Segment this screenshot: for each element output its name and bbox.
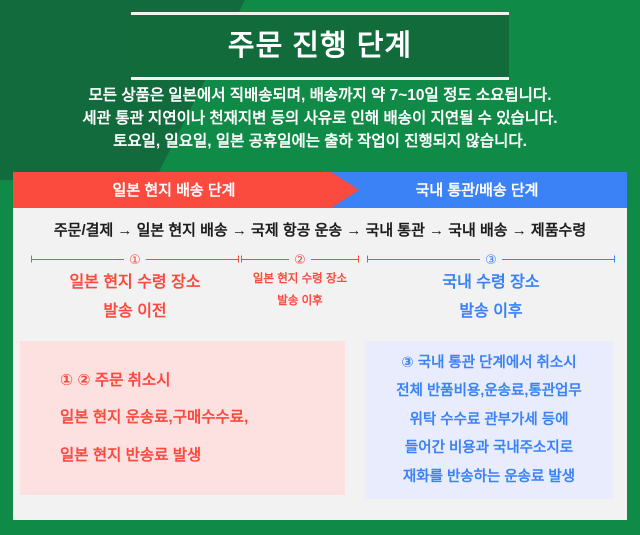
callout-red-line-1: ① ② 주문 취소시 — [60, 373, 345, 389]
callout-blue-line-2: 전체 반품비용,운송료,통관업무 — [396, 384, 582, 399]
order-process-infographic: 주문 진행 단계 모든 상품은 일본에서 직배송되며, 배송까지 약 7~10일… — [0, 0, 640, 535]
callout-domestic-cancellation: ③ 국내 통관 단계에서 취소시 전체 반품비용,운송료,통관업무 위탁 수수료… — [365, 341, 613, 499]
rule-cap-left-icon — [367, 256, 368, 263]
flow-sequence: 주문/결제 → 일본 현지 배송 → 국제 항공 운송 → 국내 통관 → 국내… — [13, 208, 627, 252]
title-banner: 주문 진행 단계 — [131, 12, 509, 80]
tab-japan-label: 일본 현지 배송 단계 — [113, 183, 236, 198]
stage-marker-2-when: 발송 이후 — [241, 295, 359, 309]
callout-blue-line-5: 재화를 반송하는 운송료 발생 — [403, 470, 575, 485]
stage-markers: ① 일본 현지 수령 장소 발송 이전 ② 일본 현지 수령 장소 발송 이후 — [13, 252, 627, 338]
intro-line-1: 모든 상품은 일본에서 직배송되며, 배송까지 약 7~10일 정도 소요됩니다… — [0, 84, 640, 107]
content-panel: 국내 통관/배송 단계 일본 현지 배송 단계 주문/결제 → 일본 현지 배송… — [13, 172, 627, 520]
rule-cap-right-icon — [358, 256, 359, 263]
rule-cap-right-icon — [238, 256, 239, 263]
stage-marker-1-place: 일본 현지 수령 장소 — [31, 273, 239, 292]
tab-japan-local-delivery[interactable]: 일본 현지 배송 단계 — [13, 172, 359, 208]
callout-blue-line-1: ③ 국내 통관 단계에서 취소시 — [401, 356, 576, 371]
stage-marker-3-place: 국내 수령 장소 — [367, 273, 615, 292]
stage-marker-3-number: ③ — [480, 253, 502, 266]
callout-red-line-3: 일본 현지 반송료 발생 — [60, 448, 345, 464]
stage-marker-3-when: 발송 이후 — [367, 302, 615, 321]
rule-cap-right-icon — [614, 256, 615, 263]
callout-red-line-2: 일본 현지 운송료,구매수수료, — [60, 410, 345, 426]
stage-marker-1-when: 발송 이전 — [31, 302, 239, 321]
rule-cap-left-icon — [31, 256, 32, 263]
stage-marker-2-number: ② — [289, 253, 311, 266]
stage-marker-2-rule: ② — [241, 252, 359, 266]
rule-cap-left-icon — [241, 256, 242, 263]
callout-japan-cancellation: ① ② 주문 취소시 일본 현지 운송료,구매수수료, 일본 현지 반송료 발생 — [20, 341, 345, 495]
stage-tabs: 국내 통관/배송 단계 일본 현지 배송 단계 — [13, 172, 627, 208]
stage-marker-3-rule: ③ — [367, 252, 615, 266]
stage-marker-2-place: 일본 현지 수령 장소 — [241, 273, 359, 287]
intro-line-2: 세관 통관 지연이나 천재지변 등의 사유로 인해 배송이 지연될 수 있습니다… — [0, 107, 640, 130]
stage-marker-1-rule: ① — [31, 252, 239, 266]
stage-marker-1-number: ① — [124, 253, 146, 266]
intro-line-3: 토요일, 일요일, 일본 공휴일에는 출하 작업이 진행되지 않습니다. — [0, 130, 640, 153]
stage-marker-3: ③ 국내 수령 장소 발송 이후 — [367, 252, 615, 321]
intro-text-block: 모든 상품은 일본에서 직배송되며, 배송까지 약 7~10일 정도 소요됩니다… — [0, 84, 640, 153]
stage-marker-2: ② 일본 현지 수령 장소 발송 이후 — [241, 252, 359, 309]
page-title: 주문 진행 단계 — [228, 32, 412, 61]
callout-blue-line-4: 들어간 비용과 국내주소지로 — [405, 441, 573, 456]
stage-marker-1: ① 일본 현지 수령 장소 발송 이전 — [31, 252, 239, 321]
header: 주문 진행 단계 모든 상품은 일본에서 직배송되며, 배송까지 약 7~10일… — [0, 0, 640, 172]
flow-sequence-text: 주문/결제 → 일본 현지 배송 → 국제 항공 운송 → 국내 통관 → 국내… — [54, 223, 586, 238]
tab-domestic-label: 국내 통관/배송 단계 — [416, 183, 539, 198]
callout-blue-line-3: 위탁 수수료 관부가세 등에 — [410, 413, 569, 428]
